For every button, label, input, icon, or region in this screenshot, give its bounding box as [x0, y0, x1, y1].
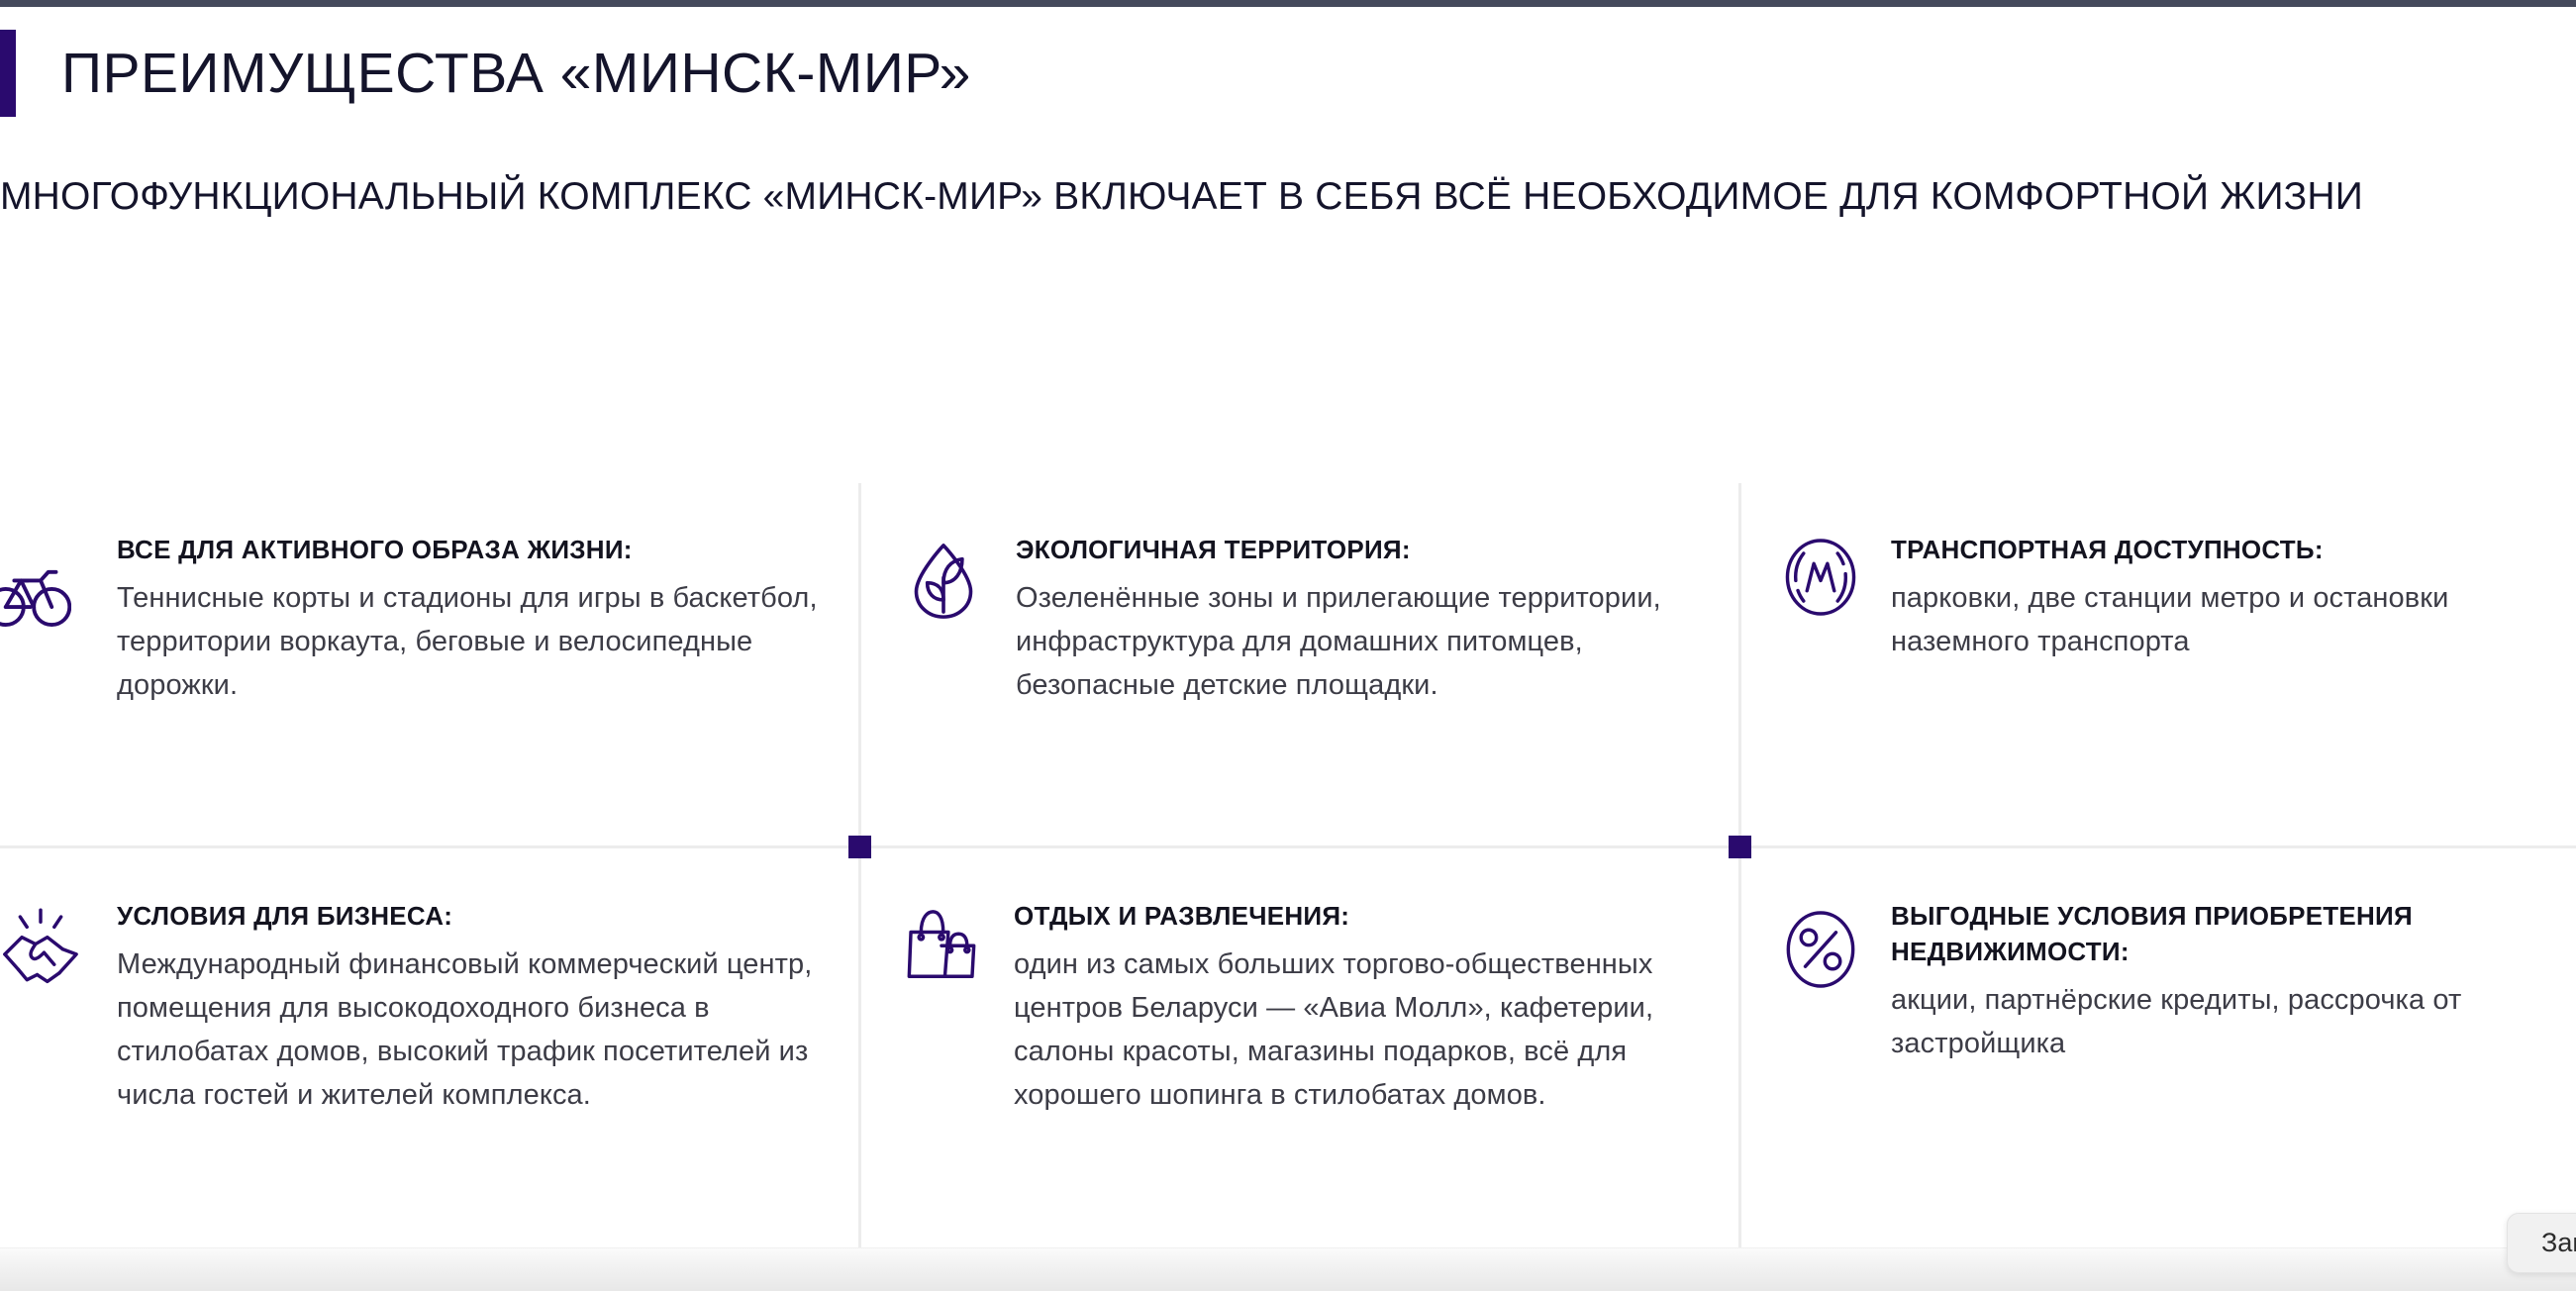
grid-divider-vertical-1 — [858, 483, 861, 1247]
grid-divider-horizontal — [0, 845, 2576, 848]
advantage-card-body: ВСЕ ДЛЯ АКТИВНОГО ОБРАЗА ЖИЗНИ: Теннисны… — [95, 533, 832, 707]
advantage-card-text: Озеленённые зоны и прилегающие территори… — [1016, 576, 1711, 707]
metro-icon — [1778, 535, 1863, 620]
handshake-icon — [0, 905, 83, 990]
advantage-card-purchase-terms: ВЫГОДНЫЕ УСЛОВИЯ ПРИОБРЕТЕНИЯ НЕДВИЖИМОС… — [1760, 899, 2576, 1065]
advantage-card-body: УСЛОВИЯ ДЛЯ БИЗНЕСА: Международный финан… — [107, 899, 832, 1117]
grid-divider-vertical-2 — [1738, 483, 1741, 1247]
advantage-card-heading: ТРАНСПОРТНАЯ ДОСТУПНОСТЬ: — [1891, 533, 2576, 568]
browser-bottom-bar — [0, 1247, 2576, 1291]
advantage-card-heading: ЭКОЛОГИЧНАЯ ТЕРРИТОРИЯ: — [1016, 533, 1711, 568]
title-accent-bar — [0, 30, 16, 117]
advantage-card-body: ВЫГОДНЫЕ УСЛОВИЯ ПРИОБРЕТЕНИЯ НЕДВИЖИМОС… — [1887, 899, 2576, 1065]
advantages-grid: ВСЕ ДЛЯ АКТИВНОГО ОБРАЗА ЖИЗНИ: Теннисны… — [0, 483, 2576, 1247]
advantage-card-text: акции, партнёрские кредиты, рассрочка от… — [1891, 978, 2576, 1065]
grid-joint-square-1 — [848, 836, 871, 858]
advantage-card-text: Теннисные корты и стадионы для игры в ба… — [117, 576, 832, 707]
advantage-card-heading: ОТДЫХ И РАЗВЛЕЧЕНИЯ: — [1014, 899, 1711, 935]
advantage-card-business: УСЛОВИЯ ДЛЯ БИЗНЕСА: Международный финан… — [0, 899, 832, 1117]
advantage-card-transport: ТРАНСПОРТНАЯ ДОСТУПНОСТЬ: парковки, две … — [1760, 533, 2576, 663]
bicycle-icon — [0, 552, 71, 638]
advantage-card-heading: ВЫГОДНЫЕ УСЛОВИЯ ПРИОБРЕТЕНИЯ НЕДВИЖИМОС… — [1891, 899, 2576, 970]
advantage-card-text: парковки, две станции метро и остановки … — [1891, 576, 2576, 663]
advantage-card-text: Международный финансовый коммерческий це… — [117, 943, 832, 1117]
advantage-card-leisure: ОТДЫХ И РАЗВЛЕЧЕНИЯ: один из самых больш… — [879, 899, 1711, 1117]
advantage-card-active-lifestyle: ВСЕ ДЛЯ АКТИВНОГО ОБРАЗА ЖИЗНИ: Теннисны… — [0, 533, 832, 707]
page-title-row: ПРЕИМУЩЕСТВА «МИНСК-МИР» — [0, 30, 1980, 117]
advantage-card-body: ЭКОЛОГИЧНАЯ ТЕРРИТОРИЯ: Озеленённые зоны… — [1010, 533, 1711, 707]
grid-joint-square-2 — [1729, 836, 1751, 858]
advantage-card-text: один из самых больших торгово-общественн… — [1014, 943, 1711, 1117]
eco-leaf-icon — [901, 539, 986, 624]
advantages-page: ПРЕИМУЩЕСТВА «МИНСК-МИР» МНОГОФУНКЦИОНАЛ… — [0, 0, 2576, 1291]
advantage-card-heading: УСЛОВИЯ ДЛЯ БИЗНЕСА: — [117, 899, 832, 935]
advantage-card-body: ОТДЫХ И РАЗВЛЕЧЕНИЯ: один из самых больш… — [1008, 899, 1711, 1117]
shopping-bag-icon — [899, 905, 984, 990]
page-title: ПРЕИМУЩЕСТВА «МИНСК-МИР» — [61, 46, 971, 102]
percent-icon — [1778, 907, 1863, 992]
floating-cta-button[interactable]: Зап — [2507, 1213, 2576, 1273]
advantage-card-body: ТРАНСПОРТНАЯ ДОСТУПНОСТЬ: парковки, две … — [1887, 533, 2576, 663]
advantage-card-heading: ВСЕ ДЛЯ АКТИВНОГО ОБРАЗА ЖИЗНИ: — [117, 533, 832, 568]
browser-top-bar — [0, 0, 2576, 7]
page-subtitle: МНОГОФУНКЦИОНАЛЬНЫЙ КОМПЛЕКС «МИНСК-МИР»… — [0, 168, 2554, 226]
advantage-card-eco-territory: ЭКОЛОГИЧНАЯ ТЕРРИТОРИЯ: Озеленённые зоны… — [879, 533, 1711, 707]
